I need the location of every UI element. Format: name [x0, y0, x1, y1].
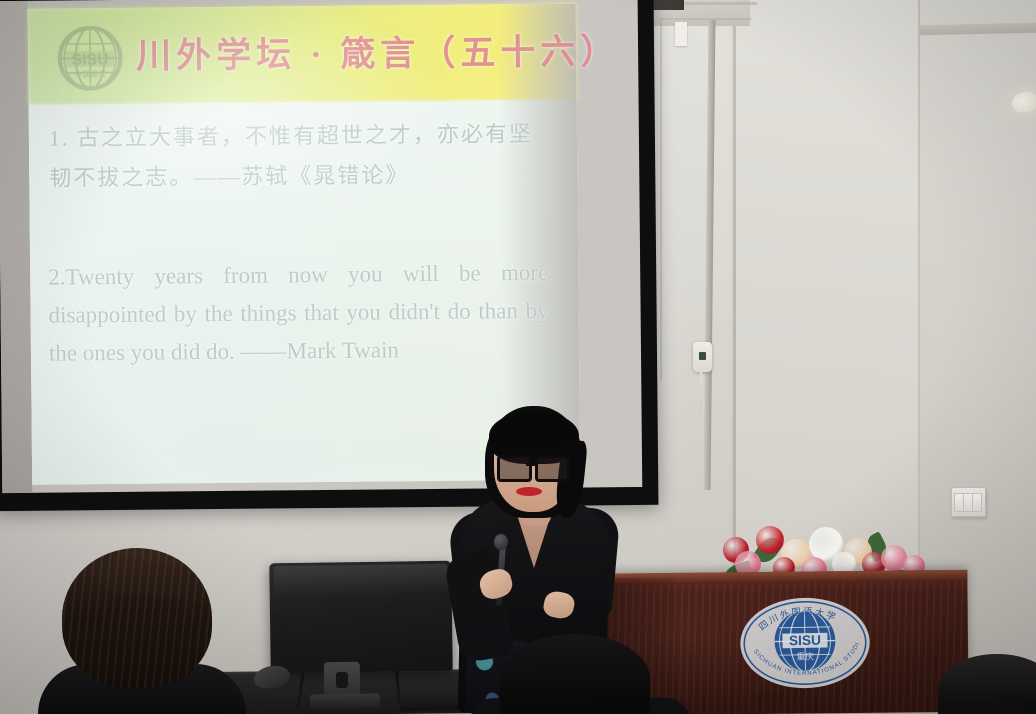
speaker-glasses-icon	[495, 455, 569, 477]
monitor-sheen	[273, 564, 447, 596]
slide-quote-english: 2.Twenty years from now you will be more…	[48, 254, 549, 373]
slide-quote-chinese: 1. 古之立大事者，不惟有超世之才，亦必有坚韧不拔之志。——苏轼《晁错论》	[49, 114, 555, 199]
svg-text:SISU: SISU	[789, 633, 821, 649]
control-pull-cord[interactable]	[700, 372, 702, 412]
svg-text:中国重庆: 中国重庆	[74, 69, 106, 79]
slide-quote-english-attribution: ——Mark Twain	[240, 337, 399, 364]
svg-text:重庆: 重庆	[796, 651, 814, 663]
glasses-lens-left	[497, 455, 532, 482]
hanging-tag	[675, 22, 687, 46]
light-switch-toggle-3[interactable]	[972, 493, 982, 512]
glasses-lens-right	[535, 455, 570, 482]
control-button-icon[interactable]	[699, 352, 706, 360]
lecture-hall-photo: SISU 中国重庆 川外学坛 · 箴言（五十六） 1. 古之立大事者，不惟有超世…	[0, 0, 1036, 714]
computer-monitor-rear	[269, 561, 453, 674]
projected-slide: SISU 中国重庆 川外学坛 · 箴言（五十六） 1. 古之立大事者，不惟有超世…	[28, 4, 581, 485]
sisu-podium-seal-icon: SISU 重庆 四川外国语大学 SICHUAN INTERNATIONAL ST…	[734, 593, 876, 693]
audience-member-front-center	[500, 634, 650, 714]
speaker-lips	[516, 487, 542, 496]
slide-title: 川外学坛 · 箴言（五十六）	[136, 24, 556, 79]
sisu-globe-logo-icon: SISU 中国重庆	[54, 22, 127, 95]
monitor-stand-base	[310, 694, 380, 709]
red-rose	[756, 526, 784, 554]
svg-text:SISU: SISU	[72, 52, 109, 69]
monitor-stand-cable-hole	[336, 672, 348, 688]
projector-screen-control-box[interactable]	[693, 342, 712, 372]
audience-member-front-left	[62, 548, 212, 688]
triple-light-switch[interactable]	[951, 487, 986, 517]
